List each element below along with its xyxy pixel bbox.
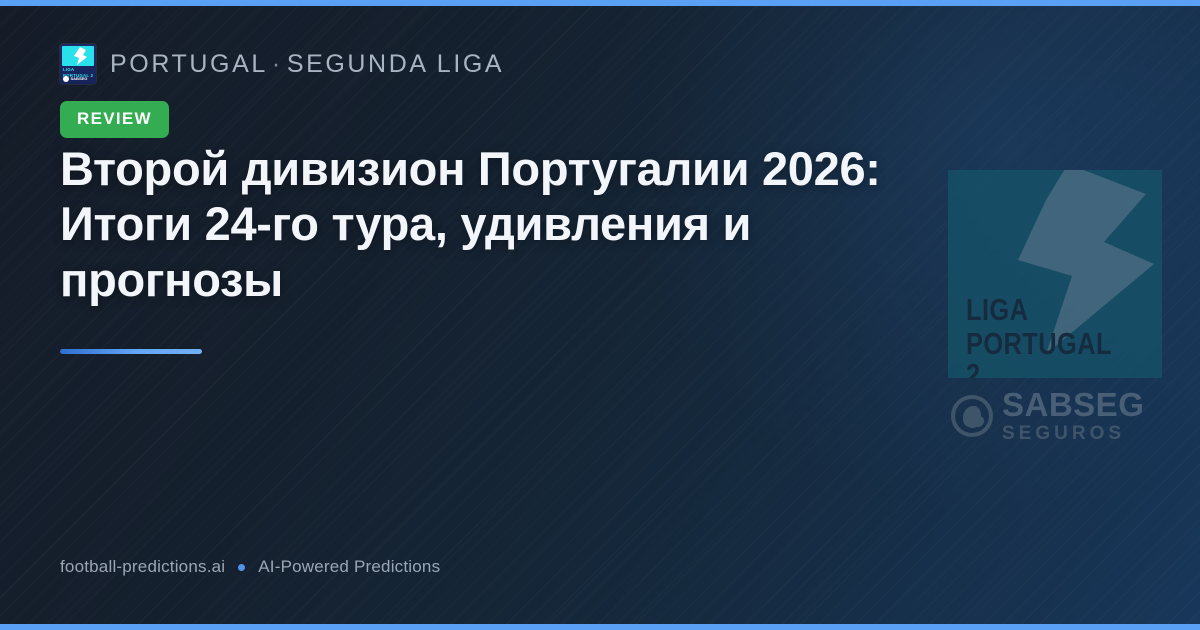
league-watermark: LIGA PORTUGAL 2 SABSEG SEGUROS: [948, 170, 1162, 440]
sponsor-name: SABSEG: [1002, 388, 1144, 421]
watermark-sponsor-text: SABSEG SEGUROS: [1002, 388, 1144, 443]
footer-site-name: football-predictions.ai: [60, 557, 225, 577]
accent-divider: [60, 349, 202, 354]
logo-globe-icon: [63, 76, 69, 82]
content-column: LIGA PORTUGAL 2 SABSEG PORTUGAL·SEGUNDA …: [60, 0, 940, 630]
breadcrumb-separator: ·: [268, 50, 287, 78]
watermark-line-1: LIGA: [966, 294, 1028, 325]
footer-tagline: AI-Powered Predictions: [258, 557, 440, 577]
sponsor-subtitle: SEGUROS: [1002, 424, 1144, 443]
breadcrumb-text: PORTUGAL·SEGUNDA LIGA: [110, 50, 504, 79]
logo-line-1: LIGA: [63, 68, 74, 72]
logo-lightning-icon: [72, 47, 87, 65]
breadcrumb-competition: SEGUNDA LIGA: [287, 50, 504, 78]
watermark-badge: LIGA PORTUGAL 2: [948, 170, 1162, 378]
watermark-sponsor: SABSEG SEGUROS: [951, 388, 1144, 443]
globe-icon: [951, 395, 993, 437]
liga-portugal-2-logo-icon: LIGA PORTUGAL 2 SABSEG: [60, 44, 96, 84]
page-title: Второй дивизион Португалии 2026: Итоги 2…: [60, 141, 960, 307]
logo-sponsor-label: SABSEG: [71, 77, 88, 81]
og-card: LIGA PORTUGAL 2 SABSEG SEGUROS LIGA PORT…: [0, 0, 1200, 630]
logo-sponsor: SABSEG: [63, 76, 87, 82]
watermark-line-2: PORTUGAL 2: [966, 328, 1127, 378]
status-badge: REVIEW: [60, 101, 169, 138]
footer: football-predictions.ai AI-Powered Predi…: [60, 557, 440, 577]
footer-dot-separator: [238, 564, 245, 571]
breadcrumb-country: PORTUGAL: [110, 50, 268, 78]
breadcrumb: LIGA PORTUGAL 2 SABSEG PORTUGAL·SEGUNDA …: [60, 44, 504, 84]
